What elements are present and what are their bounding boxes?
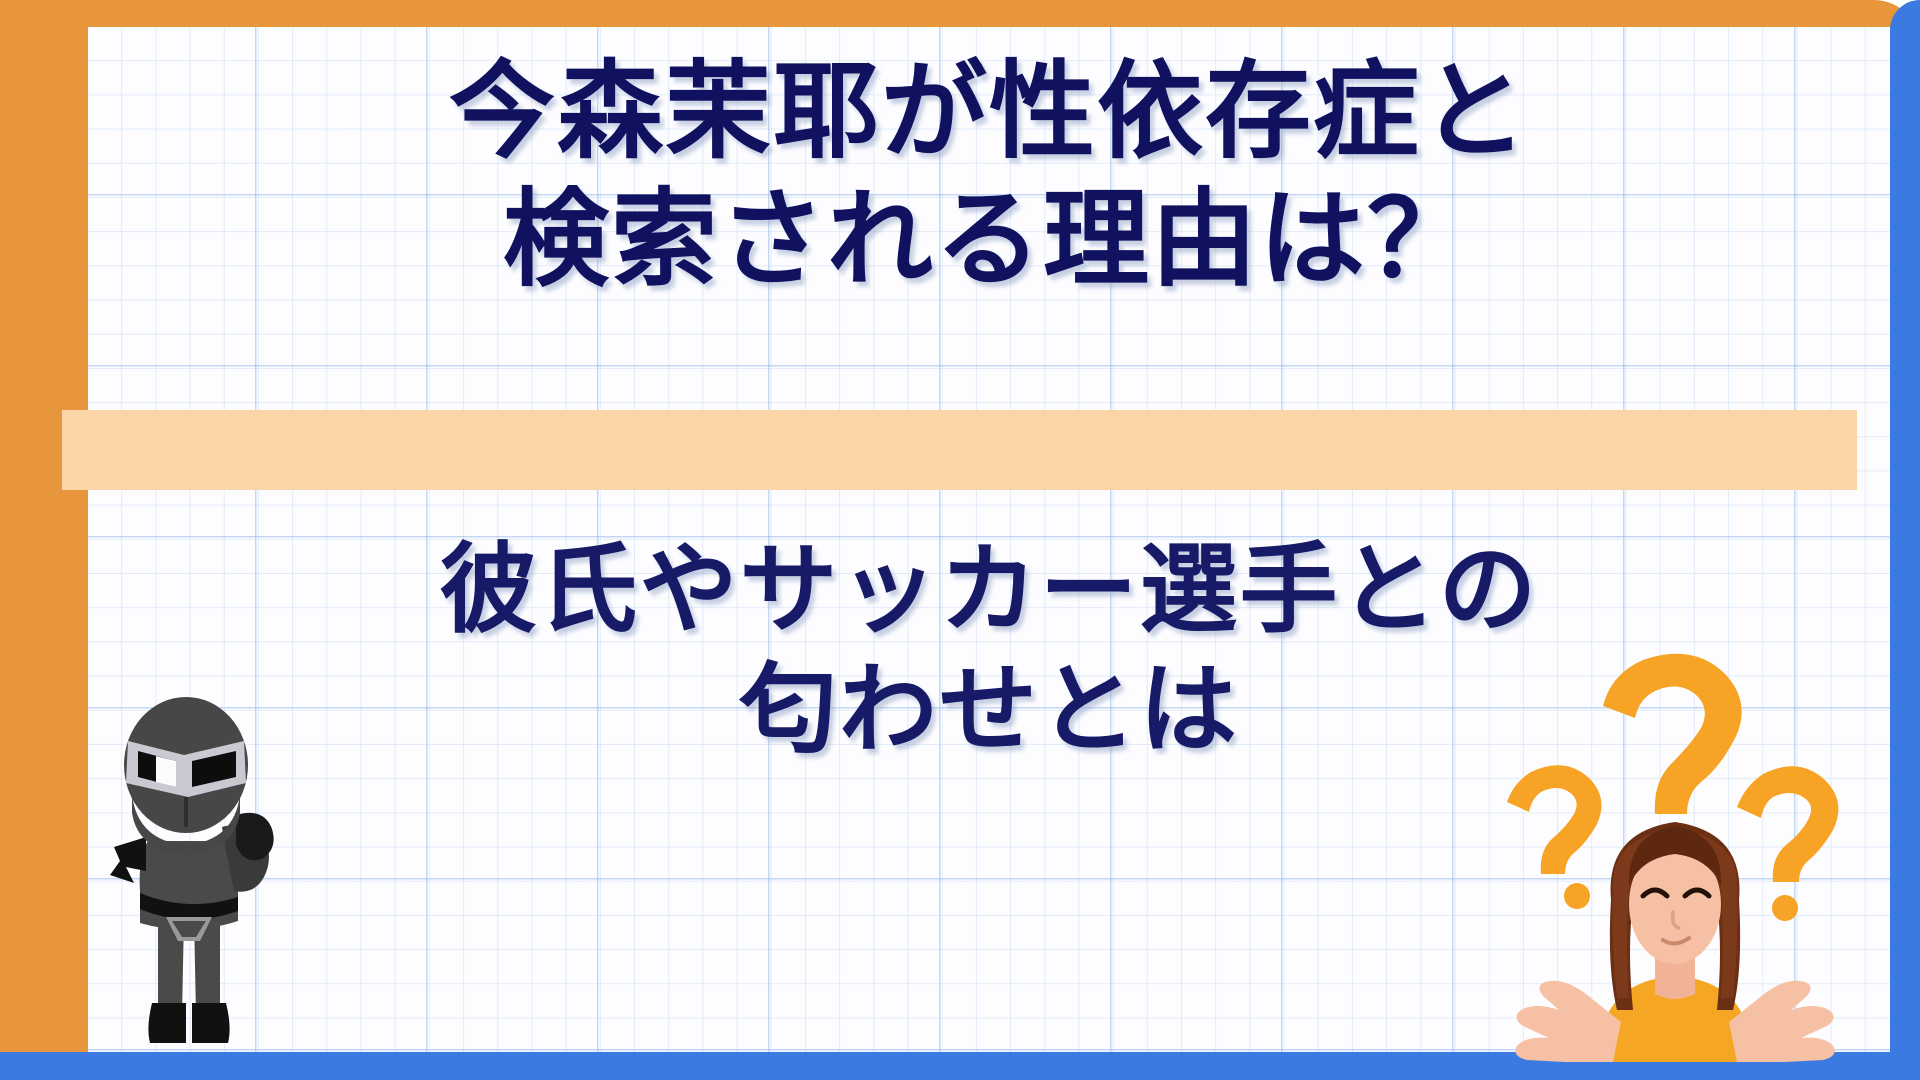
confused-woman-icon <box>1495 650 1855 1062</box>
ninja-icon <box>96 645 276 1060</box>
highlight-band <box>62 410 1857 490</box>
question-mark-icon-right <box>1737 766 1838 921</box>
confused-woman-illustration <box>1495 650 1855 1062</box>
blue-right-stripe <box>1890 0 1920 1080</box>
slide-canvas: 今森茉耶が性依存症と 検索される理由は？ 彼氏やサッカー選手との 匂わせとは <box>0 0 1920 1080</box>
ninja-character-illustration <box>96 645 276 1060</box>
question-mark-icon-left <box>1507 765 1602 909</box>
